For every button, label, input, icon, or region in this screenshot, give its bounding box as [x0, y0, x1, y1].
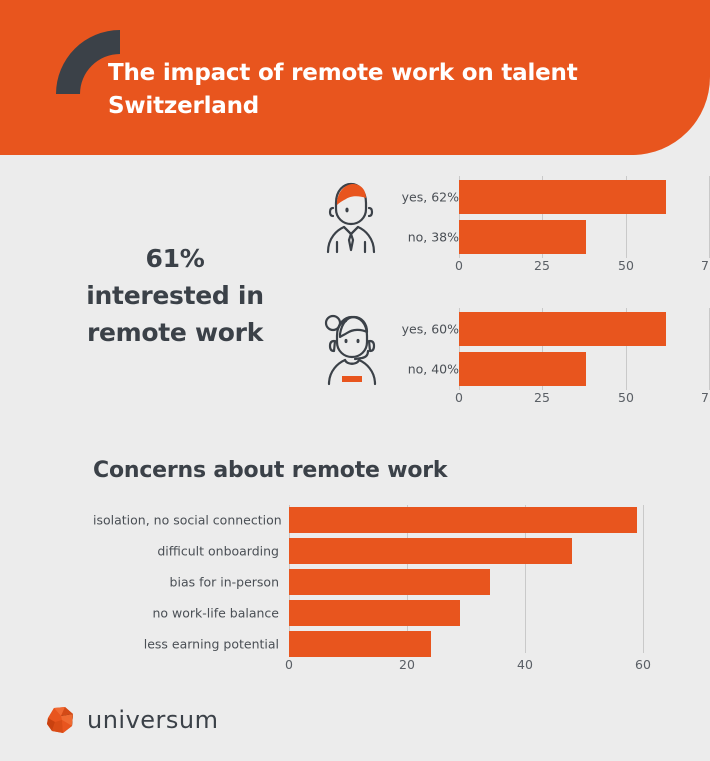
x-tick-label: 25 — [534, 258, 550, 273]
bar-isolation — [289, 507, 637, 533]
male-avatar-icon — [320, 178, 382, 256]
kpi-label-line-1: interested in — [30, 277, 320, 314]
bar-row: yes, 60% — [382, 312, 710, 346]
bar-label: bias for in-person — [93, 575, 279, 590]
bar-label: yes, 62% — [402, 190, 459, 205]
table-row: difficult onboarding — [93, 538, 653, 564]
bar-no — [459, 220, 586, 254]
table-row: isolation, no social connection — [93, 507, 653, 533]
bar-label: difficult onboarding — [93, 544, 279, 559]
x-tick-label: 0 — [285, 657, 293, 672]
x-tick-label: 20 — [399, 657, 415, 672]
page-title: The impact of remote work on talent — [108, 57, 668, 90]
x-tick-label: 75 — [701, 258, 710, 273]
bar-label: no work-life balance — [93, 606, 279, 621]
x-tick-label: 60 — [635, 657, 651, 672]
x-tick-label: 0 — [455, 390, 463, 405]
kpi-label-line-2: remote work — [30, 314, 320, 351]
table-row: no work-life balance — [93, 600, 653, 626]
bar-row: yes, 62% — [382, 180, 710, 214]
chart-concerns: 0 20 40 60 isolation, no social connecti… — [93, 505, 653, 680]
bar-label: no, 38% — [408, 230, 459, 245]
bar-row: no, 40% — [382, 352, 710, 386]
page-subtitle: Switzerland — [108, 90, 668, 123]
bar-label: isolation, no social connection — [93, 513, 279, 528]
chart-men-plot: 0 25 50 75 yes, 62% no, 38% — [382, 176, 710, 272]
kpi-value: 61% — [30, 240, 320, 277]
bar-yes — [459, 312, 666, 346]
bar-bias — [289, 569, 490, 595]
header-banner: The impact of remote work on talent Swit… — [0, 0, 710, 155]
female-avatar-icon — [320, 310, 382, 388]
chart-women-plot: 0 25 50 75 yes, 60% no, 40% — [382, 308, 710, 404]
x-tick-label: 40 — [517, 657, 533, 672]
bar-yes — [459, 180, 666, 214]
bar-label: no, 40% — [408, 362, 459, 377]
bar-label: less earning potential — [93, 637, 279, 652]
x-tick-label: 50 — [618, 258, 634, 273]
bar-work-life — [289, 600, 460, 626]
kpi-callout: 61% interested in remote work — [30, 240, 320, 351]
bar-no — [459, 352, 586, 386]
bar-earning — [289, 631, 431, 657]
x-tick-label: 75 — [701, 390, 710, 405]
x-tick-label: 50 — [618, 390, 634, 405]
concerns-chart-title: Concerns about remote work — [93, 458, 447, 483]
bar-label: yes, 60% — [402, 322, 459, 337]
bar-row: no, 38% — [382, 220, 710, 254]
header-title-block: The impact of remote work on talent Swit… — [108, 57, 668, 123]
x-tick-label: 25 — [534, 390, 550, 405]
x-tick-label: 0 — [455, 258, 463, 273]
bar-onboarding — [289, 538, 572, 564]
universum-logo: universum — [45, 705, 219, 735]
universum-polyhedron-logo-icon — [45, 705, 75, 735]
universum-wordmark: universum — [87, 706, 219, 734]
table-row: bias for in-person — [93, 569, 653, 595]
table-row: less earning potential — [93, 631, 653, 657]
